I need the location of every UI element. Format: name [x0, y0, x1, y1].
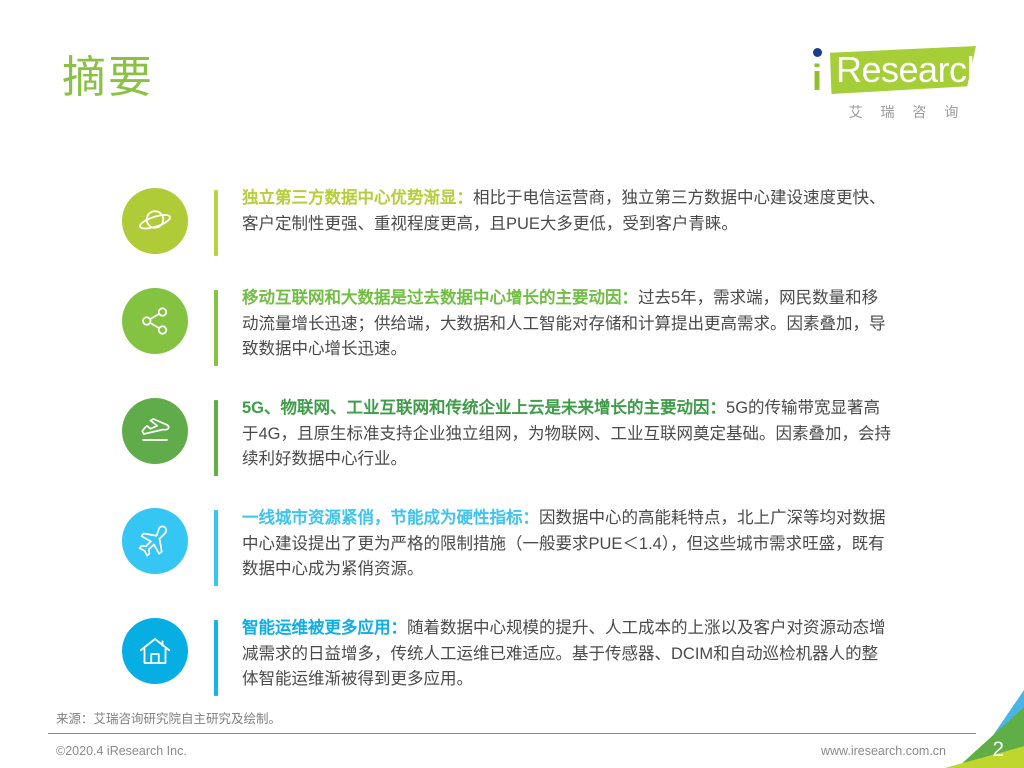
- bullet-heading-2: 移动互联网和大数据是过去数据中心增长的主要动因：: [242, 289, 638, 307]
- bullet-icon-circle-2: [122, 288, 188, 354]
- bullet-heading-1: 独立第三方数据中心优势渐显：: [242, 189, 473, 207]
- airplane-icon: [137, 523, 173, 559]
- slide-root: 摘要 i Research 艾 瑞 咨 询 独立第三方数据中心优势: [0, 0, 1024, 768]
- page-number: 2: [992, 739, 1004, 760]
- planet-saturn-icon: [137, 203, 173, 239]
- bullet-icon-circle-4: [122, 508, 188, 574]
- website-url[interactable]: www.iresearch.com.cn: [821, 744, 946, 758]
- bullet-text-5: 智能运维被更多应用：随着数据中心规模的提升、人工成本的上涨以及客户对资源动态增减…: [218, 616, 1024, 693]
- bullet-icon-circle-5: [122, 618, 188, 684]
- list-item: 移动互联网和大数据是过去数据中心增长的主要动因：过去5年，需求端，网民数量和移动…: [0, 286, 1024, 372]
- logo-subtitle: 艾 瑞 咨 询: [838, 102, 976, 122]
- logo-i-letter: i: [812, 60, 822, 96]
- page-title: 摘要: [62, 52, 154, 105]
- airplane-takeoff-icon: [137, 413, 173, 449]
- bullet-text-4: 一线城市资源紧俏，节能成为硬性指标：因数据中心的高能耗特点，北上广深等均对数据中…: [218, 506, 1024, 583]
- corner-decoration: 2: [938, 690, 1024, 768]
- logo-wordmark: Research: [836, 50, 986, 90]
- home-icon: [137, 633, 173, 669]
- logo-i-dot: [813, 48, 822, 57]
- share-network-icon: [137, 303, 173, 339]
- bullet-heading-3: 5G、物联网、工业互联网和传统企业上云是未来增长的主要动因：: [242, 399, 726, 417]
- list-item: 独立第三方数据中心优势渐显：相比于电信运营商，独立第三方数据中心建设速度更快、客…: [0, 186, 1024, 262]
- iresearch-logo: i Research 艾 瑞 咨 询: [808, 42, 976, 128]
- bullet-icon-circle-3: [122, 398, 188, 464]
- list-item: 5G、物联网、工业互联网和传统企业上云是未来增长的主要动因：5G的传输带宽显著高…: [0, 396, 1024, 482]
- source-note: 来源：艾瑞咨询研究院自主研究及绘制。: [56, 708, 281, 727]
- footer-divider: [48, 733, 976, 734]
- bullet-heading-5: 智能运维被更多应用：: [242, 619, 407, 637]
- summary-bullet-list: 独立第三方数据中心优势渐显：相比于电信运营商，独立第三方数据中心建设速度更快、客…: [0, 186, 1024, 726]
- bullet-text-1: 独立第三方数据中心优势渐显：相比于电信运营商，独立第三方数据中心建设速度更快、客…: [218, 186, 1024, 237]
- bullet-icon-circle-1: [122, 188, 188, 254]
- logo-mark: i Research: [808, 42, 976, 98]
- bullet-text-3: 5G、物联网、工业互联网和传统企业上云是未来增长的主要动因：5G的传输带宽显著高…: [218, 396, 1024, 473]
- list-item: 一线城市资源紧俏，节能成为硬性指标：因数据中心的高能耗特点，北上广深等均对数据中…: [0, 506, 1024, 592]
- list-item: 智能运维被更多应用：随着数据中心规模的提升、人工成本的上涨以及客户对资源动态增减…: [0, 616, 1024, 702]
- copyright-text: ©2020.4 iResearch Inc.: [56, 744, 187, 758]
- bullet-heading-4: 一线城市资源紧俏，节能成为硬性指标：: [242, 509, 539, 527]
- bullet-text-2: 移动互联网和大数据是过去数据中心增长的主要动因：过去5年，需求端，网民数量和移动…: [218, 286, 1024, 363]
